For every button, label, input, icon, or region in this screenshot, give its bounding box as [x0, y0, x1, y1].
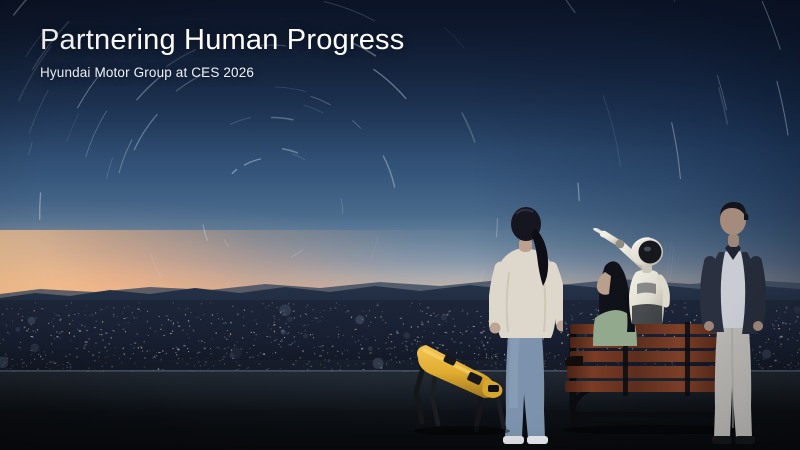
hero-scene: Partnering Human Progress Hyundai Motor …	[0, 0, 800, 450]
man-standing	[700, 196, 766, 450]
page-subtitle: Hyundai Motor Group at CES 2026	[40, 65, 404, 80]
page-title: Partnering Human Progress	[40, 24, 404, 56]
hero-title-block: Partnering Human Progress Hyundai Motor …	[40, 24, 404, 80]
humanoid-robot	[590, 228, 680, 328]
robot-dog	[400, 330, 515, 435]
